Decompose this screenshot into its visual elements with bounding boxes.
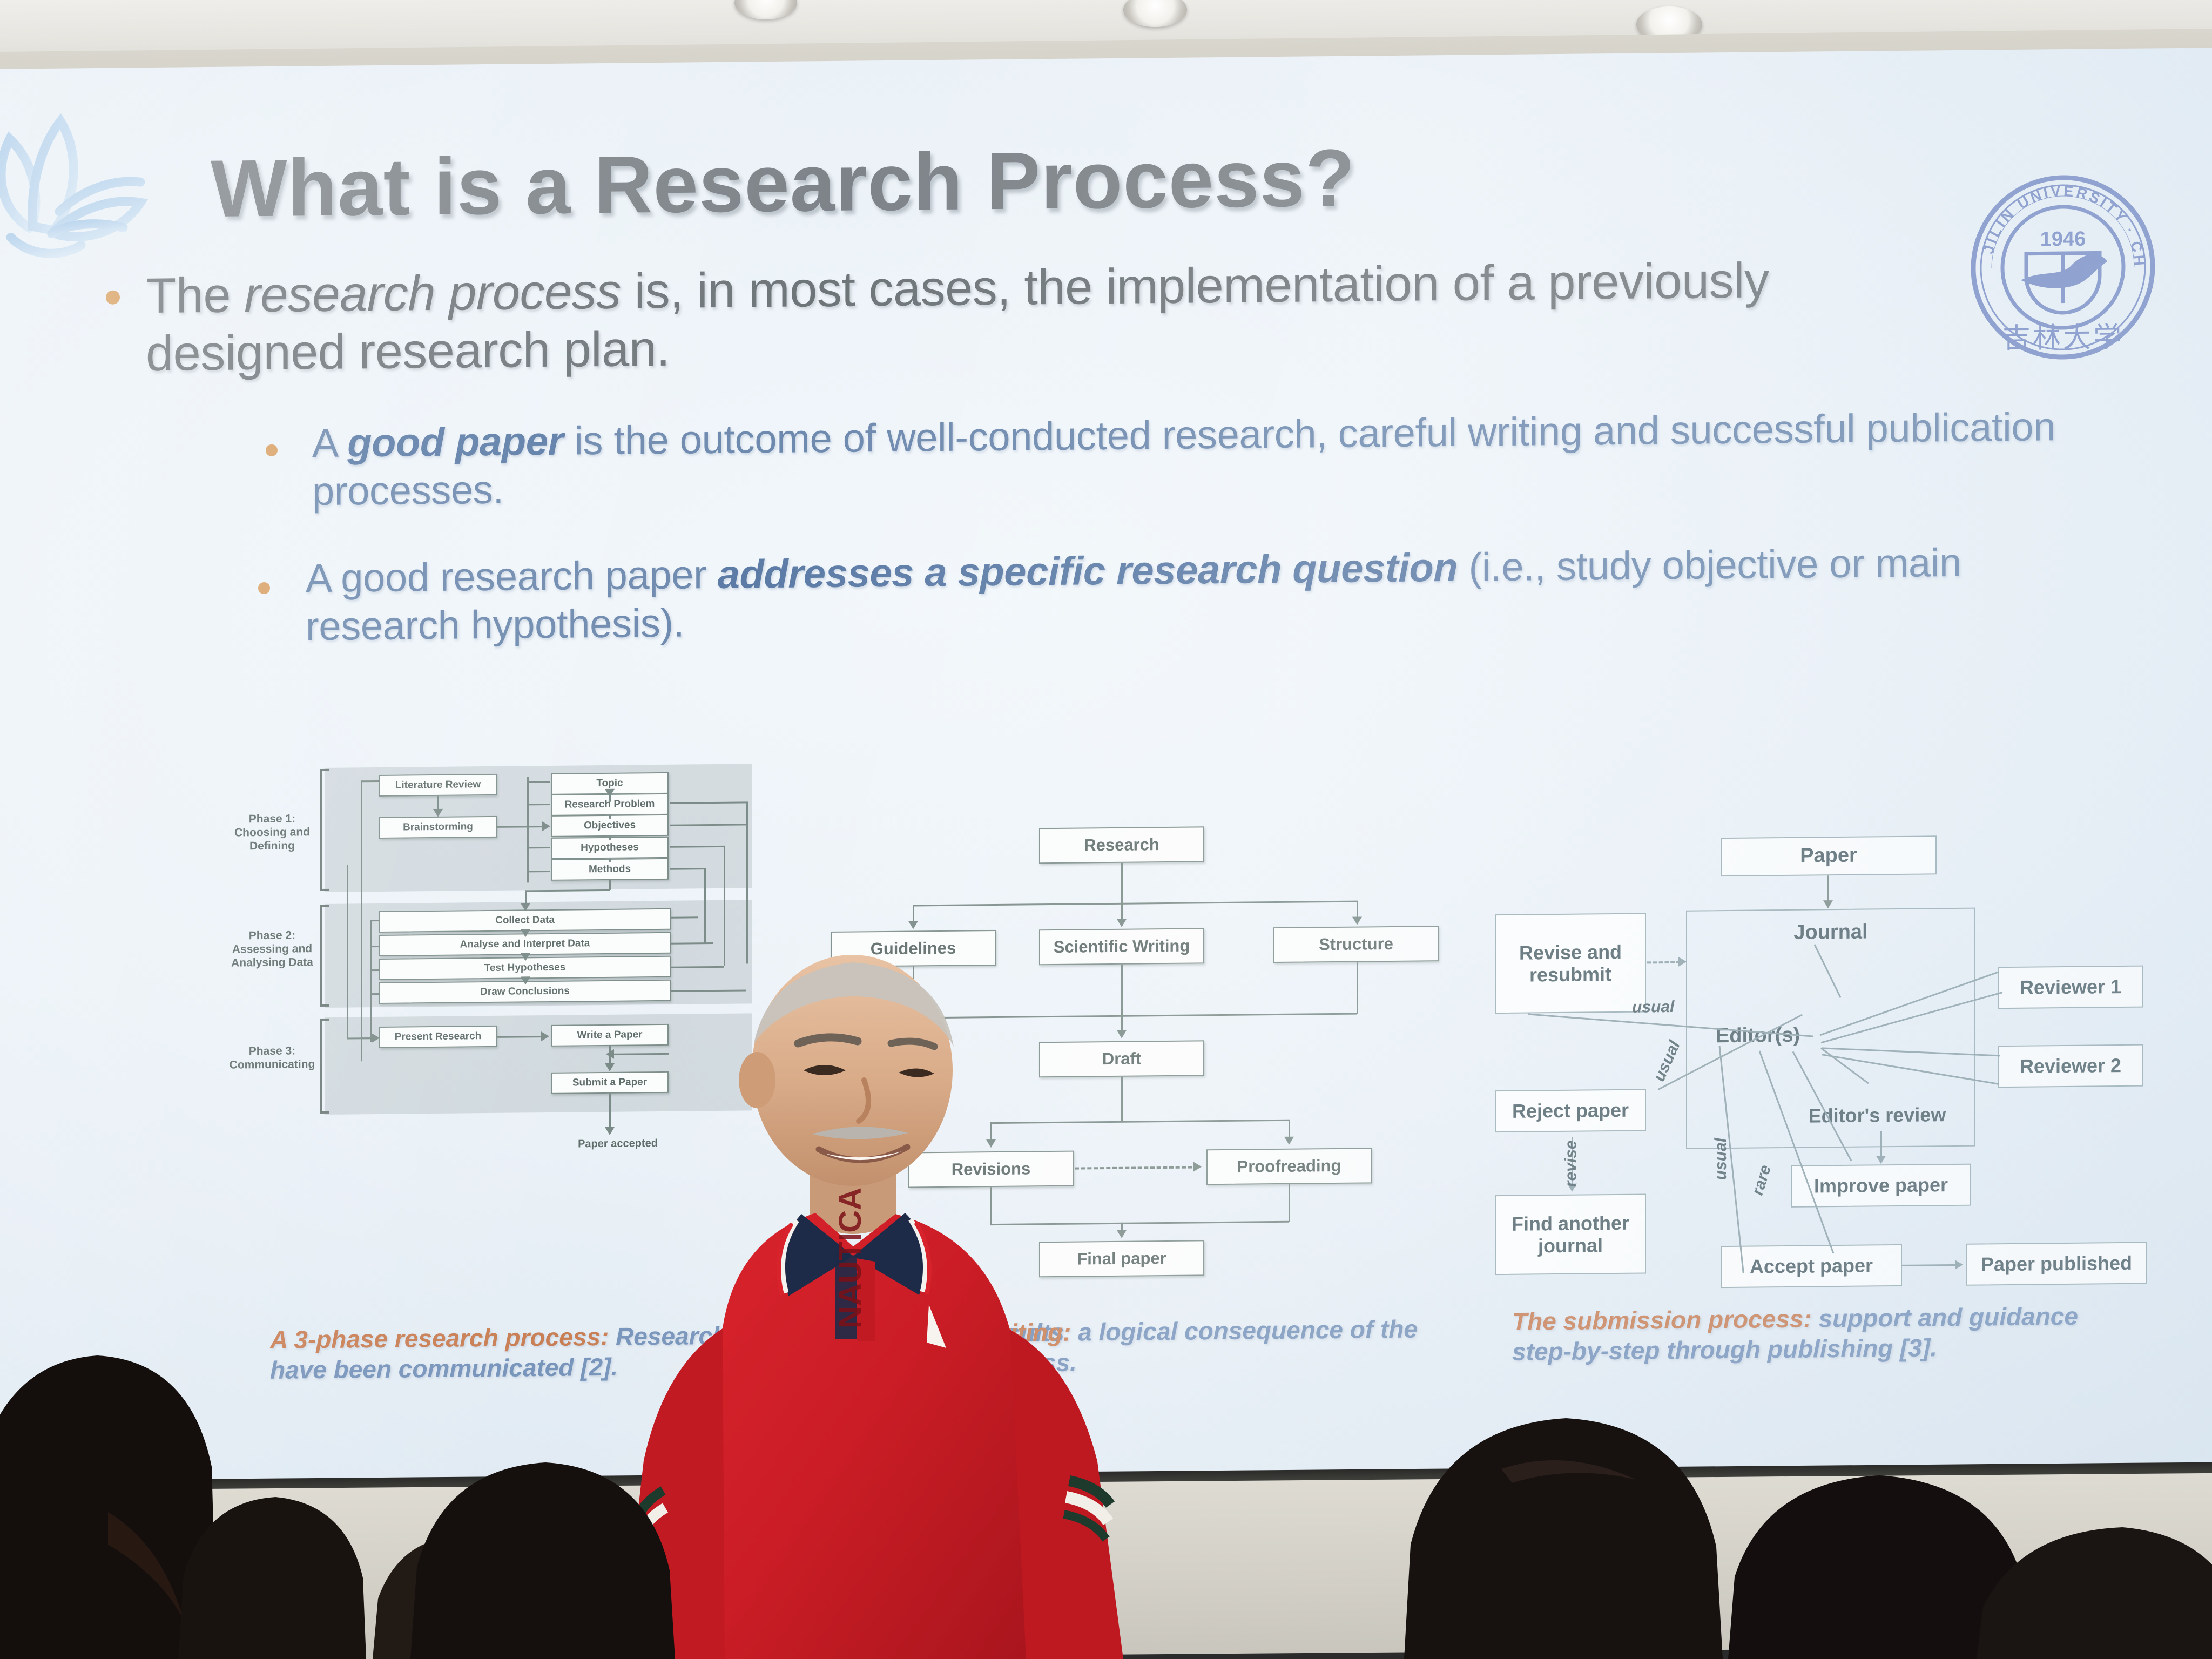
edge-feedback-methods: [670, 868, 705, 870]
phase-1-line-2: Choosing and: [227, 826, 318, 840]
node-research: Research: [1039, 826, 1204, 864]
node-structure: Structure: [1273, 926, 1439, 963]
bullet-1-seg-a: The: [146, 267, 244, 323]
arrow-down-icon: [433, 809, 443, 817]
audience-head-7: [1977, 1527, 2212, 1659]
edge-methods-down: [609, 880, 611, 890]
edge-rail-hypotheses: [527, 847, 550, 848]
edge-paper-journal: [1827, 875, 1829, 903]
edge-litreview-brainstorm: [437, 796, 439, 810]
edge-rail-methods: [527, 871, 550, 872]
node-brainstorming: Brainstorming: [379, 816, 497, 839]
node-reviewer-1: Reviewer 1: [1998, 966, 2143, 1009]
edge-outer-return-h: [347, 1037, 373, 1039]
phase-label-2: Phase 2: Assessing and Analysing Data: [227, 929, 318, 970]
edge-phase2-left-rail: [370, 920, 372, 1042]
arrow-down-icon: [521, 903, 530, 911]
edge-fan-structure: [1357, 901, 1358, 918]
bullet-3: A good research paper addresses a specif…: [306, 538, 2061, 651]
bullet-2: A good paper is the outcome of well-cond…: [312, 403, 2089, 516]
edge-rail-topic: [527, 781, 550, 783]
arrow-down-icon: [521, 976, 530, 984]
arrow-down-icon: [1823, 900, 1833, 908]
jilin-university-seal: JILIN UNIVERSITY · CHINA 1946 吉林大学: [1966, 168, 2160, 369]
phase-3-line-2: Communicating: [227, 1058, 318, 1072]
audience-head-5: [1404, 1418, 1723, 1659]
edge-revise-journal-dashed: [1647, 961, 1681, 964]
edge-split-proofreading: [1289, 1120, 1290, 1138]
edge-methods-collect-h: [525, 889, 610, 892]
arrow-down-icon: [1352, 917, 1362, 925]
bullet-2-seg-b: good paper: [347, 419, 563, 466]
bullet-marker-3: [258, 582, 270, 594]
audience-row: [0, 1166, 2212, 1659]
edge-methods-collect: [525, 890, 527, 904]
phase-bracket-1: [320, 769, 329, 891]
node-present-research: Present Research: [379, 1026, 497, 1048]
node-revise-resubmit: Revise and resubmit: [1495, 913, 1646, 1014]
edge-rail-analyse: [370, 946, 380, 947]
phase-1-line-1: Phase 1:: [227, 812, 318, 826]
arrow-right-icon: [1678, 957, 1687, 967]
edge-outer-left: [361, 780, 362, 1061]
edge-rail-conclude: [370, 993, 380, 995]
node-hypotheses: Hypotheses: [551, 837, 669, 859]
edge-rail-problem: [527, 804, 550, 805]
phase-2-line-3: Analysing Data: [227, 956, 318, 970]
edge-research-down: [1121, 863, 1123, 904]
arrow-right-icon: [372, 1033, 380, 1043]
phase-3-line-1: Phase 3:: [227, 1044, 318, 1058]
svg-text:1946: 1946: [2040, 228, 2086, 251]
edge-label-usual-1: usual: [1632, 998, 1674, 1017]
phase-1-line-3: Defining: [227, 839, 318, 853]
node-reject-paper: Reject paper: [1495, 1089, 1646, 1132]
bullet-1: The research process is, in most cases, …: [146, 250, 1944, 382]
arrow-right-icon: [541, 1031, 549, 1041]
arrow-right-icon: [542, 821, 550, 831]
arrow-down-icon: [1284, 1137, 1294, 1145]
arrow-down-icon: [521, 929, 530, 937]
arrow-down-icon: [605, 789, 615, 797]
edge-problem-objectives: [609, 815, 611, 819]
page-title: What is a Research Process?: [211, 133, 1777, 229]
edge-hypotheses-methods: [609, 859, 611, 862]
phase-bracket-3: [320, 1019, 329, 1114]
phase-2-line-2: Assessing and: [227, 942, 318, 956]
svg-text:吉林大学: 吉林大学: [2002, 322, 2123, 354]
edge-rail-test: [370, 969, 380, 971]
bullet-marker-2: [266, 444, 278, 456]
bullet-1-seg-b: research process: [244, 264, 621, 323]
bullet-2-seg-c: is the outcome of well-conducted researc…: [312, 404, 2055, 514]
edge-outer-return: [347, 865, 348, 1038]
edge-left-rail: [527, 777, 529, 882]
edge-research-fanout: [913, 901, 1357, 907]
phase-2-line-1: Phase 2:: [227, 929, 318, 943]
bullet-3-seg-b: addresses a specific research question: [718, 545, 1458, 597]
node-paper: Paper: [1721, 835, 1937, 876]
phase-label-3: Phase 3: Communicating: [227, 1044, 318, 1072]
bullet-2-seg-a: A: [312, 421, 347, 466]
bullet-3-seg-a: A good research paper: [306, 552, 718, 601]
node-reviewer-2: Reviewer 2: [1998, 1044, 2143, 1088]
edge-objectives-hypotheses: [609, 837, 611, 840]
node-literature-review: Literature Review: [379, 774, 497, 797]
audience-head-4: [410, 1462, 675, 1659]
lotus-flower-icon: [0, 100, 157, 264]
bullet-marker-1: [106, 291, 120, 305]
arrow-down-icon: [1876, 1156, 1886, 1164]
edge-fan-writing: [1121, 903, 1123, 920]
edge-structure-join: [1357, 962, 1358, 1014]
arrow-down-icon: [521, 953, 530, 961]
lecture-room-scene: JILIN UNIVERSITY · CHINA 1946 吉林大学 What …: [0, 0, 2212, 1659]
phase-bracket-2: [320, 905, 329, 1007]
node-journal-label: Journal: [1686, 920, 1975, 946]
phase-label-1: Phase 1: Choosing and Defining: [227, 812, 318, 853]
edge-rail-collect: [370, 920, 380, 921]
node-editors-review-label: Editor's review: [1791, 1103, 1964, 1128]
edge-outer-top: [361, 780, 380, 782]
